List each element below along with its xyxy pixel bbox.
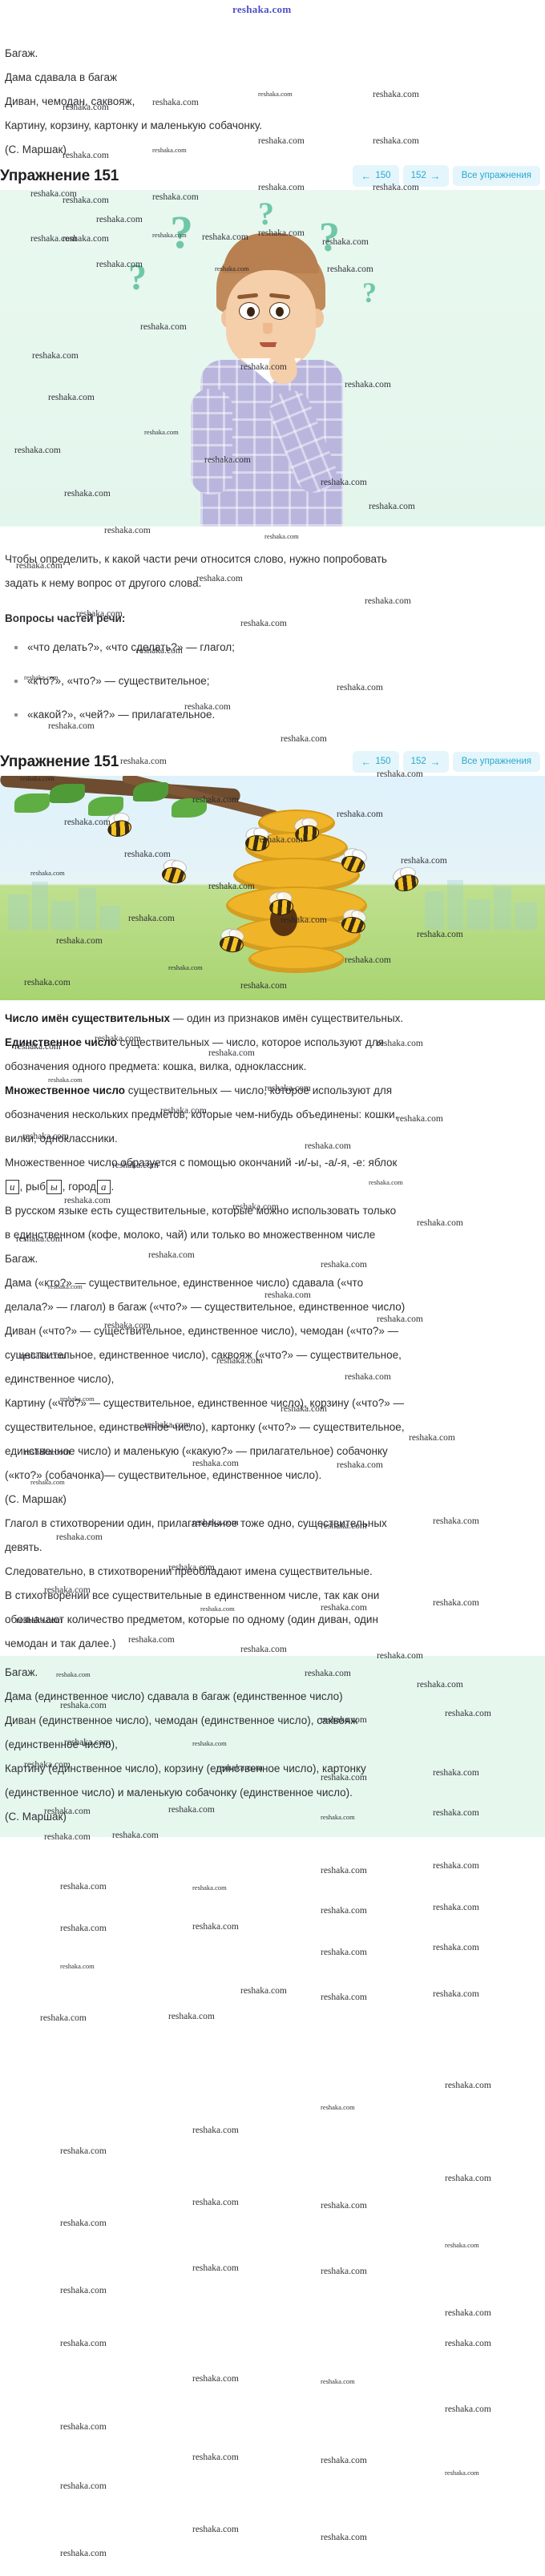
watermark-text: reshaka.com: [321, 2201, 367, 2211]
final-answer-line: Диван (единственное число), чемодан (еди…: [0, 1709, 545, 1733]
theory-plural-2: обозначения нескольких предметов, которы…: [0, 1103, 545, 1127]
analysis-line: Дама («кто?» — существительное, единстве…: [0, 1271, 545, 1295]
conclusion-line: обозначают количество предметом, которые…: [0, 1608, 545, 1632]
boy-thinking-image: ? ? ? ? ?: [0, 190, 545, 527]
question-mark-icon: ?: [128, 259, 147, 296]
final-answer-line: (единственное число),: [0, 1733, 545, 1757]
final-answer-line: (С. Маршак): [0, 1805, 545, 1829]
prev-exercise-button[interactable]: ← 150: [353, 165, 398, 187]
watermark-text: reshaka.com: [192, 2374, 239, 2384]
content-root: Багаж. Дама сдавала в багаж Диван, чемод…: [0, 0, 545, 1837]
bee: [264, 894, 297, 919]
parts-of-speech-list: «что делать?», «что сделать?» — глагол; …: [0, 631, 545, 732]
bee: [155, 862, 190, 886]
watermark-text: reshaka.com: [192, 2198, 239, 2207]
theory-endings-boxed: и, рыбы, города.: [0, 1175, 545, 1199]
leaf: [14, 793, 50, 813]
page-root: Багаж. Дама сдавала в багаж Диван, чемод…: [0, 0, 545, 1837]
watermark-text: reshaka.com: [445, 2339, 491, 2348]
analysis-line: (С. Маршак): [0, 1488, 545, 1512]
watermark-text: reshaka.com: [321, 1906, 367, 1916]
theory-endings: Множественное число образуется с помощью…: [0, 1151, 545, 1175]
prev-exercise-label: 150: [375, 172, 390, 181]
list-item: «что делать?», «что сделать?» — глагол;: [27, 631, 540, 664]
term-rest: — один из признаков имён существительных…: [170, 1012, 403, 1024]
watermark-text: reshaka.com: [321, 2456, 367, 2465]
final-answer-line: Картину (единственное число), корзину (е…: [0, 1757, 545, 1781]
question-mark-icon: ?: [258, 198, 274, 230]
watermark-text: reshaka.com: [60, 2549, 107, 2558]
exercise-header: Упражнение 151 ← 150 152 → Все упражнени…: [0, 162, 545, 190]
face: [226, 270, 316, 368]
theory-block: Число имён существительных — один из при…: [0, 1007, 545, 1247]
watermark-text: reshaka.com: [445, 2174, 491, 2183]
leaf: [172, 798, 207, 818]
all-exercises-label: Все упражнения: [462, 757, 531, 767]
watermark-text: reshaka.com: [433, 1861, 479, 1871]
page-title-secondary: Упражнение 151: [0, 753, 119, 771]
watermark-text: reshaka.com: [321, 2267, 367, 2276]
theory-plural-1: Множественное число существительных — чи…: [0, 1079, 545, 1103]
arm-left: [191, 389, 232, 495]
all-exercises-label: Все упражнения: [462, 172, 531, 181]
poem-line: Картину, корзину, картонку и маленькую с…: [0, 114, 545, 138]
boy-character: [186, 240, 359, 527]
watermark-text: reshaka.com: [321, 1993, 367, 2002]
exercise-header-secondary: Упражнение 151 ← 150 152 → Все упражнени…: [0, 748, 545, 776]
explanation-line: Чтобы определить, к какой части речи отн…: [0, 547, 545, 571]
arrow-right-icon: →: [430, 171, 441, 181]
analysis-line: существительное, единственное число), са…: [0, 1343, 545, 1367]
watermark-text: reshaka.com: [192, 2453, 239, 2462]
watermark-text: reshaka.com: [321, 2533, 367, 2542]
question-mark-icon: ?: [362, 278, 377, 307]
conclusion-line: Глагол в стихотворении один, прилагатель…: [0, 1512, 545, 1536]
term-bold: Множественное число: [5, 1084, 125, 1096]
watermark-text: reshaka.com: [60, 2286, 107, 2295]
conclusion-line: девять.: [0, 1536, 545, 1560]
watermark-text: reshaka.com: [40, 2013, 87, 2023]
theory-exception-2: в единственном (кофе, молоко, чай) или т…: [0, 1223, 545, 1247]
list-item: «кто?», «что?» — существительное;: [27, 664, 540, 698]
prev-exercise-button[interactable]: ← 150: [353, 751, 398, 773]
leaf: [133, 782, 168, 801]
top-poem-block: Багаж. Дама сдавала в багаж Диван, чемод…: [0, 42, 545, 162]
all-exercises-button[interactable]: Все упражнения: [453, 166, 540, 187]
watermark-text: reshaka.com: [60, 1882, 107, 1892]
analysis-line: единственное число),: [0, 1367, 545, 1391]
prev-exercise-label: 150: [375, 757, 390, 767]
watermark-text: reshaka.com: [433, 1903, 479, 1912]
term-rest: существительных — число, которое использ…: [117, 1036, 384, 1048]
theory-singular-2: обозначения одного предмета: кошка, вилк…: [0, 1055, 545, 1079]
poem-line: Дама сдавала в багаж: [0, 66, 545, 90]
pupil-left: [247, 307, 255, 317]
all-exercises-button[interactable]: Все упражнения: [453, 752, 540, 773]
questions-title: Вопросы частей речи:: [0, 607, 545, 631]
watermark-text: reshaka.com: [433, 1943, 479, 1952]
watermark-text: reshaka.com: [168, 2012, 215, 2021]
stem-ryb: , рыб: [20, 1181, 46, 1193]
watermark-text: reshaka.com: [60, 2339, 107, 2348]
analysis-heading: Багаж.: [0, 1247, 545, 1271]
watermark-text: reshaka.com: [60, 2481, 107, 2491]
leaf: [50, 784, 85, 803]
theory-plural-3: вилки, одноклассники.: [0, 1127, 545, 1151]
next-exercise-label: 152: [411, 172, 426, 181]
bees-hive-image: [0, 776, 545, 1000]
term-bold: Число имён существительных: [5, 1012, 170, 1024]
watermark-text: reshaka.com: [192, 2126, 239, 2135]
poem-line: Диван, чемодан, саквояж,: [0, 90, 545, 114]
stem-gorod: , город: [63, 1181, 96, 1193]
pupil-right: [276, 307, 284, 317]
final-answer-line: (единственное число) и маленькую собачон…: [0, 1781, 545, 1805]
conclusion-line: В стихотворении все существительные в ед…: [0, 1584, 545, 1608]
final-answer-heading: Багаж.: [0, 1661, 545, 1685]
watermark-text: reshaka.com: [60, 2146, 107, 2156]
watermark-text: reshaka.com: [60, 2422, 107, 2432]
analysis-block: Багаж. Дама («кто?» — существительное, е…: [0, 1247, 545, 1656]
conclusion-line: Следовательно, в стихотворении преоблада…: [0, 1560, 545, 1584]
watermark-text: reshaka.com: [445, 2404, 491, 2414]
analysis-line: единственное число) и маленькую («какую?…: [0, 1439, 545, 1464]
term-rest: существительных — число, которое использ…: [125, 1084, 392, 1096]
theory-exception-1: В русском языке есть существительные, ко…: [0, 1199, 545, 1223]
page-title: Упражнение 151: [0, 168, 119, 185]
watermark-text: reshaka.com: [321, 1866, 367, 1875]
bee: [240, 832, 272, 853]
watermark-text: reshaka.com: [445, 2469, 479, 2477]
theory-number-rule: Число имён существительных — один из при…: [0, 1007, 545, 1031]
next-exercise-label: 152: [411, 757, 426, 767]
ending-box-i: и: [6, 1180, 19, 1194]
term-bold: Единственное число: [5, 1036, 117, 1048]
next-exercise-button[interactable]: 152 →: [403, 165, 449, 187]
bee: [214, 931, 248, 955]
bee: [289, 820, 323, 845]
endings-tail: .: [111, 1181, 115, 1193]
watermark-text: reshaka.com: [240, 1986, 287, 1996]
watermark-text: reshaka.com: [192, 1884, 227, 1892]
analysis-line: («кто?» (собачонка)— существительное, ед…: [0, 1464, 545, 1488]
analysis-line: Картину («что?» — существительное, единс…: [0, 1391, 545, 1415]
watermark-text: reshaka.com: [445, 2308, 491, 2318]
finger: [276, 341, 286, 365]
list-item: «какой?», «чей?» — прилагательное.: [27, 698, 540, 732]
watermark-text: reshaka.com: [321, 2377, 355, 2385]
ending-box-a: а: [97, 1180, 111, 1194]
analysis-line: существительное, единственное число), ка…: [0, 1415, 545, 1439]
arrow-right-icon: →: [430, 757, 441, 767]
explanation-line: задать к нему вопрос от другого слова.: [0, 571, 545, 596]
exercise-nav-secondary: ← 150 152 → Все упражнения: [353, 751, 540, 773]
analysis-line: Диван («что?» — существительное, единств…: [0, 1319, 545, 1343]
watermark-text: reshaka.com: [433, 1989, 479, 1999]
watermark-text: reshaka.com: [445, 2081, 491, 2090]
watermark-text: reshaka.com: [445, 2241, 479, 2249]
next-exercise-button[interactable]: 152 →: [403, 751, 449, 773]
analysis-line: делала?» — глагол) в багаж («что?» — сущ…: [0, 1295, 545, 1319]
poem-line: (С. Маршак): [0, 138, 545, 162]
watermark-text: reshaka.com: [192, 2263, 239, 2273]
explanation-block: Чтобы определить, к какой части речи отн…: [0, 547, 545, 732]
watermark-text: reshaka.com: [321, 2103, 355, 2111]
arrow-left-icon: ←: [361, 757, 371, 767]
watermark-text: reshaka.com: [321, 1948, 367, 1957]
poem-line: Багаж.: [0, 42, 545, 66]
final-answer-line: Дама (единственное число) сдавала в бага…: [0, 1685, 545, 1709]
watermark-text: reshaka.com: [192, 1922, 239, 1932]
watermark-text: reshaka.com: [192, 2525, 239, 2534]
theory-singular-1: Единственное число существительных — чис…: [0, 1031, 545, 1055]
watermark-text: reshaka.com: [60, 2219, 107, 2228]
arrow-left-icon: ←: [361, 171, 371, 181]
exercise-nav: ← 150 152 → Все упражнения: [353, 165, 540, 187]
watermark-text: reshaka.com: [60, 1962, 95, 1970]
conclusion-line: чемодан и так далее.): [0, 1632, 545, 1656]
bee: [101, 814, 137, 842]
ending-box-y: ы: [46, 1180, 62, 1194]
nose: [263, 323, 272, 334]
watermark-text: reshaka.com: [60, 1924, 107, 1933]
final-answer-block: Багаж. Дама (единственное число) сдавала…: [0, 1656, 545, 1837]
